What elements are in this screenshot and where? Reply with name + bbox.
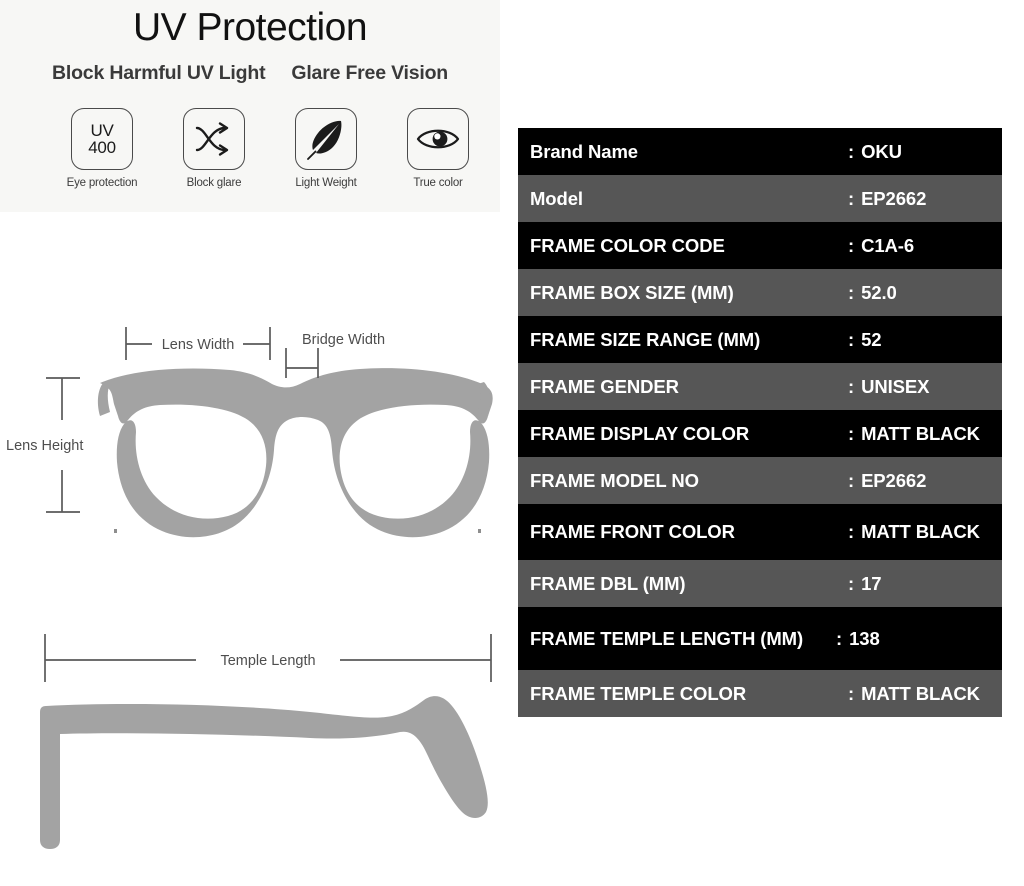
table-row: FRAME FRONT COLOR :MATT BLACK — [518, 504, 1002, 560]
spec-value: :52 — [848, 329, 1002, 351]
frame-front-diagram: Lens Width Bridge Width Lens Height — [0, 320, 512, 580]
spec-value-text: EP2662 — [861, 470, 926, 491]
uv-banner-subheadings: Block Harmful UV Light Glare Free Vision — [52, 62, 492, 85]
separator-colon: : — [848, 141, 854, 162]
spec-value: :MATT BLACK — [848, 423, 1002, 445]
dimension-label-bridge-width: Bridge Width — [302, 332, 385, 348]
product-spec-image: UV Protection Block Harmful UV Light Gla… — [0, 0, 1024, 886]
spec-label: FRAME TEMPLE COLOR — [518, 683, 848, 705]
uv-feature-caption: True color — [413, 177, 462, 189]
separator-colon: : — [848, 282, 854, 303]
spec-value: :UNISEX — [848, 376, 1002, 398]
table-row: FRAME COLOR CODE :C1A-6 — [518, 222, 1002, 269]
spec-value: :MATT BLACK — [848, 683, 1002, 705]
table-row: FRAME DISPLAY COLOR :MATT BLACK — [518, 410, 1002, 457]
uv-feature-block-glare: Block glare — [170, 108, 258, 189]
uv400-line-1: UV — [88, 122, 115, 139]
dimension-label-lens-height: Lens Height — [6, 438, 83, 454]
table-row: FRAME MODEL NO :EP2662 — [518, 457, 1002, 504]
specification-table: Brand Name :OKU Model :EP2662 FRAME COLO… — [518, 128, 1002, 717]
spec-value: :138 — [836, 628, 1002, 650]
separator-colon: : — [848, 521, 854, 542]
uv400-line-2: 400 — [88, 139, 115, 156]
uv-feature-light-weight: Light Weight — [282, 108, 370, 189]
uv-feature-caption: Block glare — [187, 177, 242, 189]
uv-feature-list: UV 400 Eye protection — [58, 108, 498, 189]
spec-label: Model — [518, 188, 848, 210]
uv-feature-caption: Eye protection — [67, 177, 138, 189]
spec-label: FRAME MODEL NO — [518, 470, 848, 492]
spec-value: :52.0 — [848, 282, 1002, 304]
uv-subheading-glare-free: Glare Free Vision — [291, 62, 448, 85]
uv-feature-caption: Light Weight — [295, 177, 356, 189]
uv-feature-eye-protection: UV 400 Eye protection — [58, 108, 146, 189]
spec-value-text: C1A-6 — [861, 235, 914, 256]
temple-arm-diagram: Temple Length — [0, 620, 512, 870]
spec-value-text: 17 — [861, 573, 881, 594]
spec-value: :17 — [848, 573, 1002, 595]
spec-value: :EP2662 — [848, 188, 1002, 210]
spec-label: FRAME SIZE RANGE (MM) — [518, 329, 848, 351]
dimension-label-temple-length: Temple Length — [220, 653, 315, 669]
eyeglass-frame-shape — [98, 368, 493, 537]
uv400-icon-text: UV 400 — [88, 122, 115, 156]
separator-colon: : — [848, 376, 854, 397]
table-row: Brand Name :OKU — [518, 128, 1002, 175]
spec-value-text: 52 — [861, 329, 881, 350]
uv-subheading-block-uv: Block Harmful UV Light — [52, 62, 265, 85]
uv400-icon: UV 400 — [71, 108, 133, 170]
feather-icon — [295, 108, 357, 170]
spec-label: FRAME BOX SIZE (MM) — [518, 282, 848, 304]
table-row: FRAME DBL (MM) :17 — [518, 560, 1002, 607]
spec-value: :OKU — [848, 141, 1002, 163]
separator-colon: : — [848, 423, 854, 444]
table-row: FRAME SIZE RANGE (MM) :52 — [518, 316, 1002, 363]
spec-value: :EP2662 — [848, 470, 1002, 492]
separator-colon: : — [848, 683, 854, 704]
table-row: FRAME BOX SIZE (MM) :52.0 — [518, 269, 1002, 316]
spec-label: FRAME COLOR CODE — [518, 235, 848, 257]
separator-colon: : — [836, 628, 842, 649]
table-row: FRAME TEMPLE COLOR :MATT BLACK — [518, 670, 1002, 717]
spec-label: Brand Name — [518, 141, 848, 163]
separator-colon: : — [848, 470, 854, 491]
spec-label: FRAME DISPLAY COLOR — [518, 423, 848, 445]
spec-value: :C1A-6 — [848, 235, 1002, 257]
spec-value-text: OKU — [861, 141, 902, 162]
uv-protection-banner: UV Protection Block Harmful UV Light Gla… — [0, 0, 500, 212]
separator-colon: : — [848, 235, 854, 256]
uv-banner-title: UV Protection — [0, 6, 500, 50]
shuffle-arrows-icon — [183, 108, 245, 170]
spec-value-text: MATT BLACK — [861, 423, 980, 444]
spec-value-text: MATT BLACK — [861, 683, 980, 704]
spec-value-text: 52.0 — [861, 282, 897, 303]
spec-label: FRAME GENDER — [518, 376, 848, 398]
spec-label: FRAME TEMPLE LENGTH (MM) — [518, 628, 836, 650]
spec-label: FRAME DBL (MM) — [518, 573, 848, 595]
spec-value: :MATT BLACK — [848, 521, 1002, 543]
illustration-column: UV Protection Block Harmful UV Light Gla… — [0, 0, 512, 886]
table-row: Model :EP2662 — [518, 175, 1002, 222]
spec-label: FRAME FRONT COLOR — [518, 521, 848, 543]
dimension-label-lens-width: Lens Width — [162, 337, 235, 353]
spec-value-text: MATT BLACK — [861, 521, 980, 542]
spec-value-text: UNISEX — [861, 376, 929, 397]
spec-value-text: 138 — [849, 628, 880, 649]
table-row: FRAME GENDER :UNISEX — [518, 363, 1002, 410]
dimension-bridge-width — [286, 348, 318, 378]
separator-colon: : — [848, 329, 854, 350]
spec-value-text: EP2662 — [861, 188, 926, 209]
eye-icon — [407, 108, 469, 170]
separator-colon: : — [848, 188, 854, 209]
separator-colon: : — [848, 573, 854, 594]
temple-arm-shape — [40, 696, 488, 849]
table-row: FRAME TEMPLE LENGTH (MM) :138 — [518, 607, 1002, 670]
uv-feature-true-color: True color — [394, 108, 482, 189]
